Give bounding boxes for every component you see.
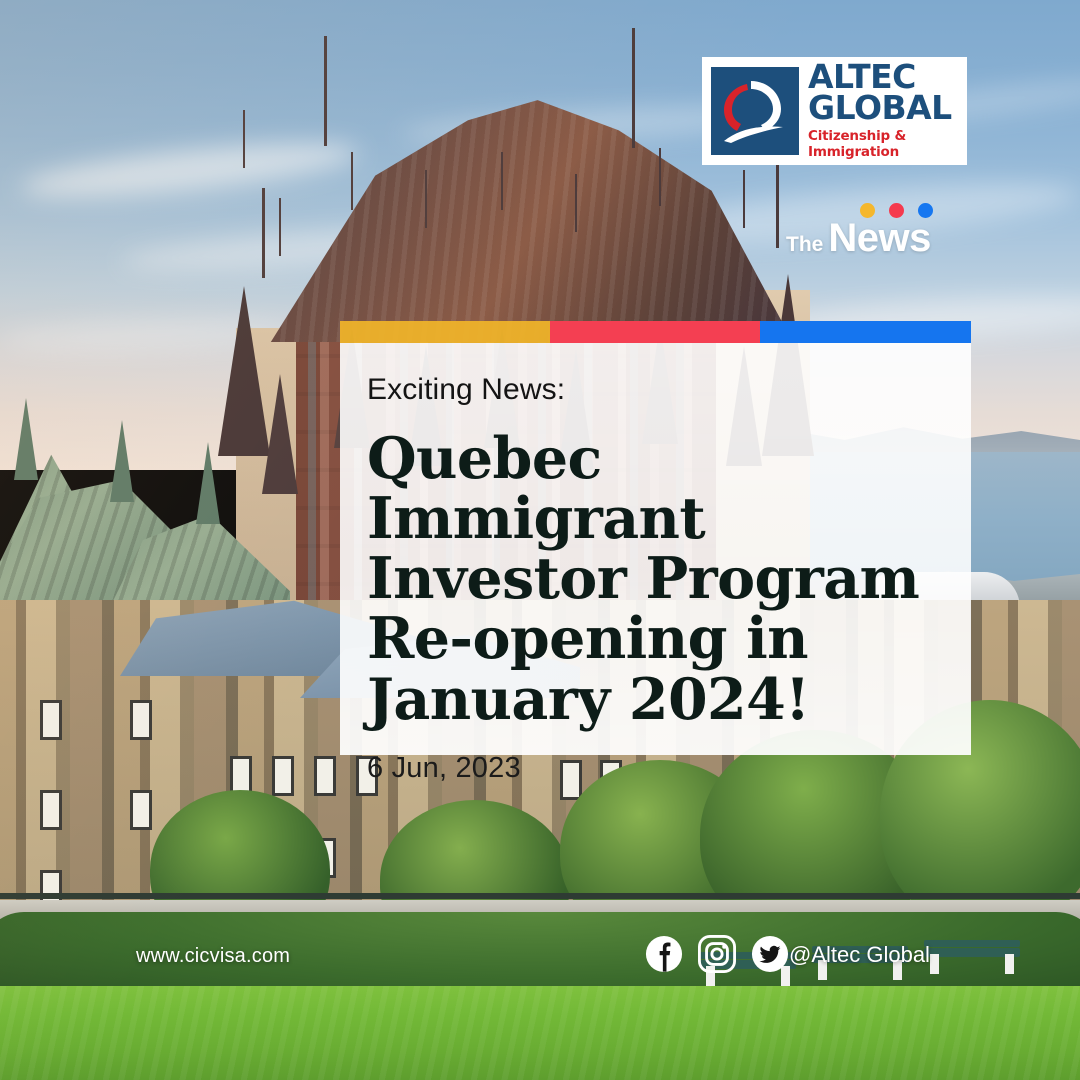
building-window — [272, 756, 294, 796]
headline-line-2: Investor Program — [367, 549, 945, 609]
website-url[interactable]: www.cicvisa.com — [136, 945, 290, 968]
green-spire — [110, 420, 134, 502]
bar-segment-blue — [760, 321, 971, 343]
altec-global-logo[interactable]: ALTEC GLOBAL Citizenship & Immigration — [702, 57, 967, 165]
roof-mast — [632, 28, 635, 148]
roof-mast — [262, 188, 265, 278]
news-wordmark: The News — [786, 216, 931, 261]
social-links — [645, 935, 789, 973]
park-bench — [924, 940, 1020, 974]
social-handle[interactable]: @Altec Global — [789, 942, 930, 968]
news-the-label: The — [786, 233, 823, 257]
twitter-icon[interactable] — [751, 935, 789, 973]
instagram-icon[interactable] — [698, 935, 736, 973]
publish-date: 6 Jun, 2023 — [367, 752, 945, 785]
logo-tagline: Citizenship & Immigration — [808, 128, 959, 160]
building-window — [314, 756, 336, 796]
building-window — [40, 700, 62, 740]
headline-line-1: Quebec Immigrant — [367, 429, 945, 549]
logo-wordmark: ALTEC GLOBAL Citizenship & Immigration — [808, 62, 959, 160]
social-media-poster: ALTEC GLOBAL Citizenship & Immigration T… — [0, 0, 1080, 1080]
building-window — [130, 700, 152, 740]
bar-segment-red — [550, 321, 760, 343]
facebook-icon[interactable] — [645, 935, 683, 973]
headline-line-3: Re-opening in — [367, 609, 945, 669]
green-spire — [14, 398, 38, 480]
logo-name-line2: GLOBAL — [808, 93, 959, 123]
accent-color-bar — [340, 321, 971, 343]
article-panel: Exciting News: Quebec Immigrant Investor… — [340, 343, 971, 755]
headline-line-4: January 2024! — [367, 670, 945, 730]
green-spire — [196, 442, 220, 524]
headline: Quebec Immigrant Investor Program Re-ope… — [367, 429, 945, 730]
bar-segment-yellow — [340, 321, 550, 343]
roof-mast — [324, 36, 327, 146]
eyebrow-label: Exciting News: — [367, 373, 945, 407]
promenade-railing — [0, 893, 1080, 899]
park-lawn — [0, 986, 1080, 1080]
the-news-badge: The News — [786, 203, 936, 259]
building-window — [130, 790, 152, 830]
building-window — [40, 790, 62, 830]
news-news-label: News — [828, 216, 931, 261]
altec-logo-mark-icon — [711, 67, 799, 155]
